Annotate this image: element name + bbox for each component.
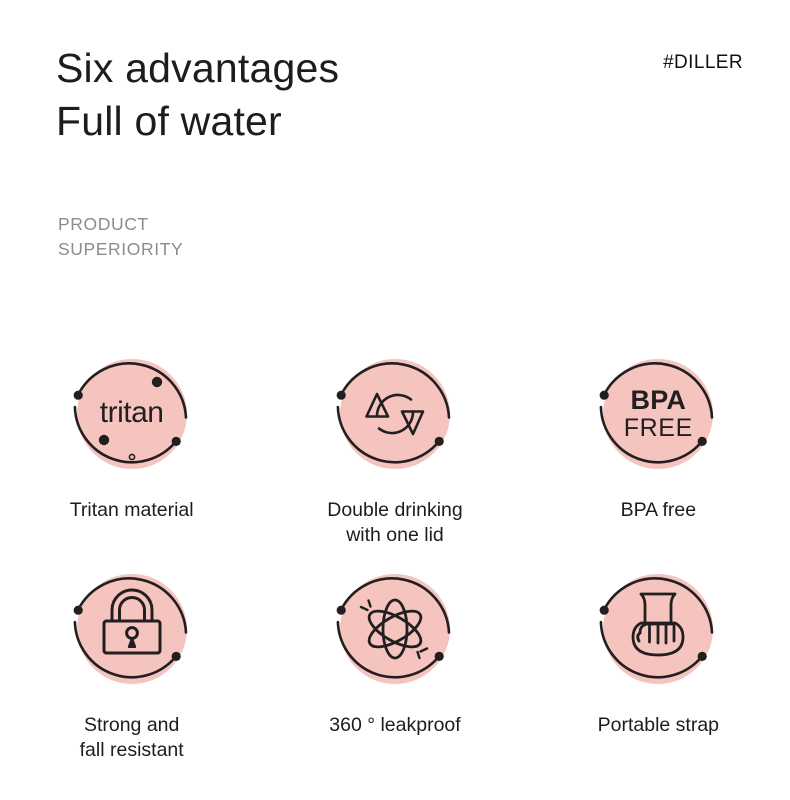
feature-label-leakproof: 360 ° leakproof [329, 713, 460, 738]
page-title-line-2: Full of water [56, 95, 339, 148]
badge-tritan-material: tritan [62, 344, 202, 484]
badge-double-drinking [325, 344, 465, 484]
header: Six advantages Full of water #DILLER PRO… [0, 0, 790, 300]
feature-label-fall-resistant: Strong and fall resistant [80, 713, 184, 763]
feature-label-double-drinking: Double drinking with one lid [327, 498, 463, 548]
page-title-line-1: Six advantages [56, 42, 339, 95]
feature-item-tritan-material: tritan Tritan material [0, 330, 263, 545]
brand-hashtag: #DILLER [663, 52, 743, 74]
feature-item-leakproof: 360 ° leakproof [263, 545, 526, 760]
feature-label-bpa-free: BPA free [621, 498, 697, 523]
page-subtitle-line-2: SUPERIORITY [58, 237, 183, 262]
page-subtitle-line-1: PRODUCT [58, 212, 183, 237]
feature-label-tritan-material: Tritan material [70, 498, 194, 523]
feature-grid: tritan Tritan material [0, 330, 790, 760]
badge-portable-strap [588, 559, 728, 699]
badge-bpa-free: BPA FREE [588, 344, 728, 484]
page-title: Six advantages Full of water [56, 42, 339, 148]
badge-leakproof [325, 559, 465, 699]
feature-item-portable-strap: Portable strap [527, 545, 790, 760]
feature-item-fall-resistant: Strong and fall resistant [0, 545, 263, 760]
badge-fall-resistant [62, 559, 202, 699]
feature-item-double-drinking: Double drinking with one lid [263, 330, 526, 545]
feature-item-bpa-free: BPA FREE BPA free [527, 330, 790, 545]
product-superiority-infographic: Six advantages Full of water #DILLER PRO… [0, 0, 790, 800]
page-subtitle: PRODUCT SUPERIORITY [58, 212, 183, 262]
feature-label-portable-strap: Portable strap [598, 713, 719, 738]
